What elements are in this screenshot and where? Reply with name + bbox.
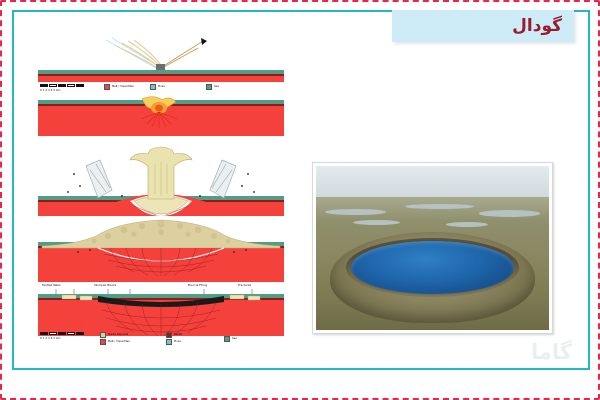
legend-swatch-melt xyxy=(104,84,110,90)
legend-swatch-ejecta xyxy=(100,332,106,338)
ejecta-mound-icon xyxy=(38,218,284,282)
legend-label-pines: Pines xyxy=(158,86,165,89)
bottom-bar: صفحه ۴ | درس ۱ فهرست تهیه کننده: اصغر مح… xyxy=(2,374,600,396)
legend-label-sea: Sea xyxy=(214,86,219,89)
legend-label-melt-b: Melt / Impactites xyxy=(108,341,130,344)
photo-crater-lake xyxy=(351,241,514,293)
legend-label-basalt: Basalt xyxy=(174,334,182,337)
legend-swatch-pines-b xyxy=(166,339,172,345)
diagram-panel-ejecta-blanket xyxy=(38,218,284,282)
meteor-trajectory-icon xyxy=(38,32,284,74)
legend-label-ejecta: Ejecta Deposits xyxy=(108,334,128,337)
diagram-legend-bottom: 0 1 2 3 4 5 km Ejecta Deposits Melt / Im… xyxy=(38,332,284,344)
legend-label-melt: Melt / Impactites xyxy=(112,86,134,89)
legend-label-pines-b: Pines xyxy=(174,341,181,344)
legend-swatch-basalt xyxy=(166,332,172,338)
legend-label-sea-b: Sea xyxy=(232,338,237,341)
photo-distant-lake-5 xyxy=(446,222,488,227)
photo-distant-lake-1 xyxy=(325,209,386,216)
photo-distant-lake-4 xyxy=(353,220,400,225)
impact-flash-icon xyxy=(38,94,284,136)
diagram-panel-excavation xyxy=(38,144,284,216)
scale-ticks-bottom: 0 1 2 3 4 5 km xyxy=(40,336,60,340)
watermark: گاما xyxy=(531,340,572,364)
legend-swatch-melt-b xyxy=(100,339,106,345)
legend-swatch-sea xyxy=(206,84,212,90)
impact-crater-diagram: 0 1 2 3 4 5 km Melt / Impactites Pines S… xyxy=(38,32,284,342)
page-title: گودال xyxy=(512,16,562,36)
ejecta-plume-icon xyxy=(38,144,284,216)
legend-swatch-pines xyxy=(150,84,156,90)
diagram-feature-labels: Faulted Walls Slumped Blocks Breccia Fil… xyxy=(38,283,284,293)
photo-sky xyxy=(316,166,549,199)
crater-photo-frame xyxy=(312,162,553,334)
slide-frame: گودال xyxy=(0,0,600,400)
legend-swatch-sea-b xyxy=(224,336,230,342)
diagram-panel-approach xyxy=(38,32,284,82)
slide-title-box: گودال xyxy=(392,10,574,42)
diagram-legend-top: 0 1 2 3 4 5 km Melt / Impactites Pines S… xyxy=(38,83,284,91)
diagram-panel-contact xyxy=(38,94,284,136)
photo-distant-lake-3 xyxy=(479,210,540,217)
scale-ticks: 0 1 2 3 4 5 km xyxy=(40,88,60,92)
watermark-text: گاما xyxy=(531,340,572,364)
crater-photo xyxy=(316,166,549,330)
